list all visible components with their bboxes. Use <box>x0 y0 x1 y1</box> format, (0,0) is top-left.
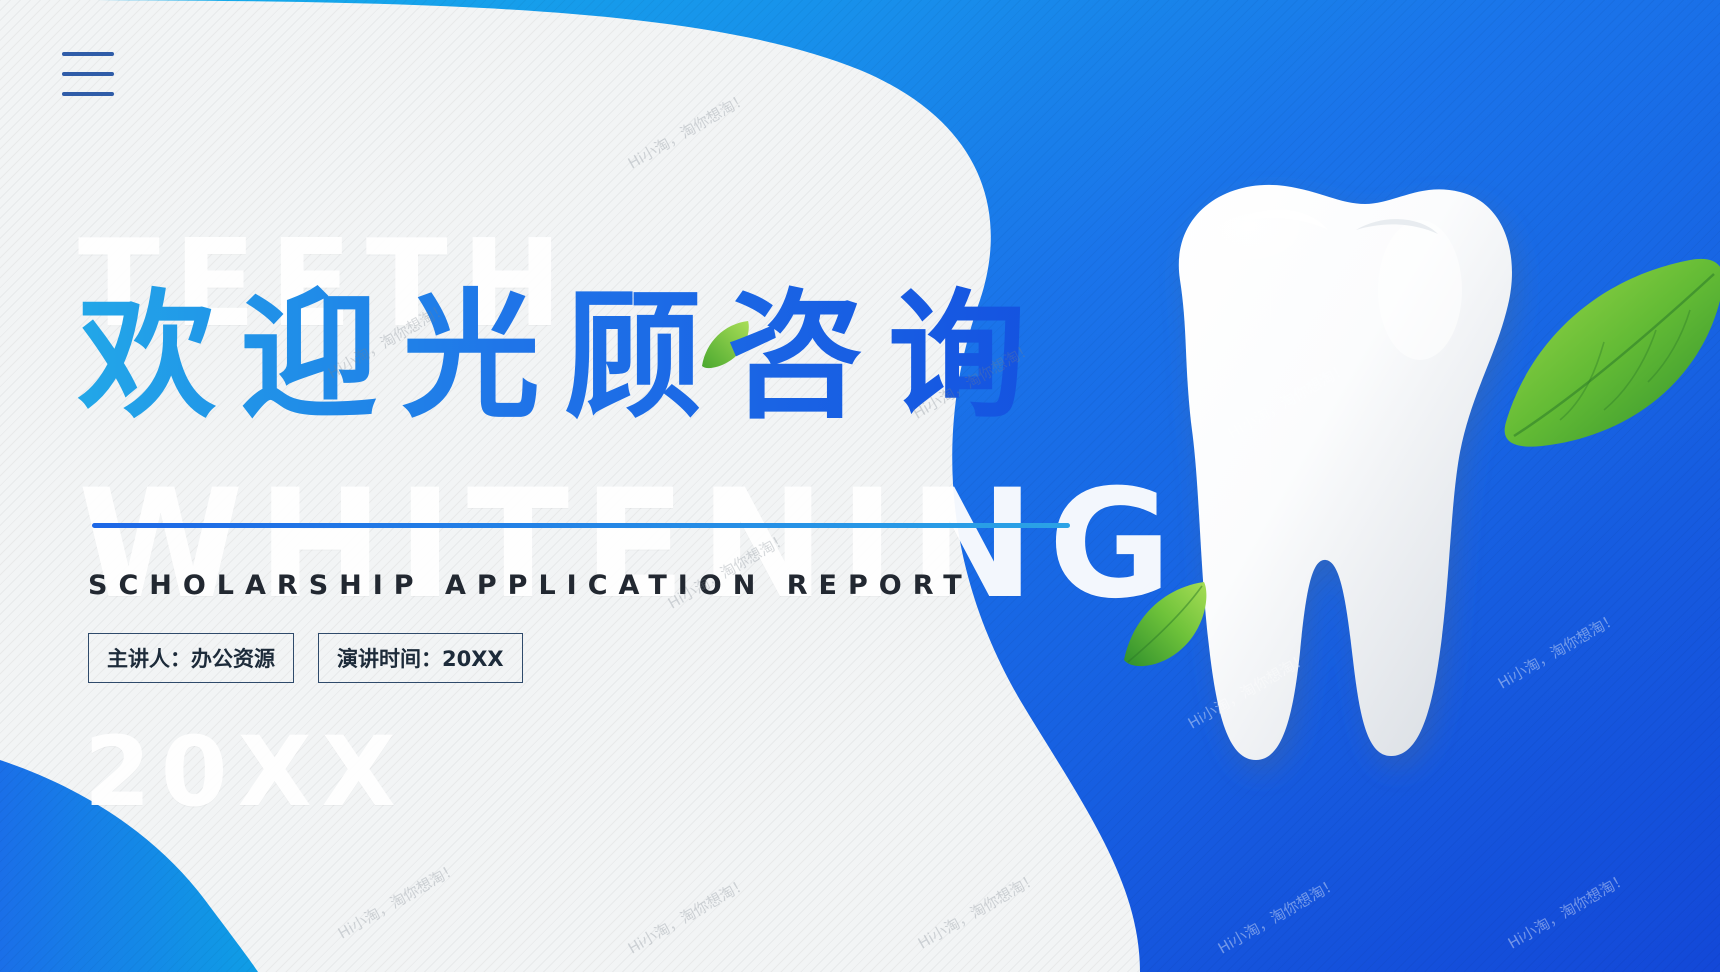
menu-bar-1 <box>62 52 114 56</box>
menu-bar-3 <box>62 92 114 96</box>
molar-tooth-illustration <box>1120 160 1540 800</box>
ghost-text-year: 20XX <box>84 716 406 828</box>
page-title: 欢迎光顾咨询 <box>78 278 1050 437</box>
meta-row: 主讲人：办公资源 演讲时间：20XX <box>88 633 523 683</box>
mint-leaf-large <box>1500 250 1720 460</box>
date-box: 演讲时间：20XX <box>318 633 523 683</box>
title-underline-rule <box>92 523 1070 528</box>
presenter-box: 主讲人：办公资源 <box>88 633 294 683</box>
menu-bar-2 <box>62 72 114 76</box>
subtitle: SCHOLARSHIP APPLICATION REPORT <box>88 570 973 601</box>
mint-leaf-small <box>1120 580 1212 670</box>
presentation-slide: TEETH WHITENING 20XX 欢迎光顾咨询 SCHOLARSHIP … <box>0 0 1720 972</box>
hamburger-menu-icon[interactable] <box>62 52 114 96</box>
